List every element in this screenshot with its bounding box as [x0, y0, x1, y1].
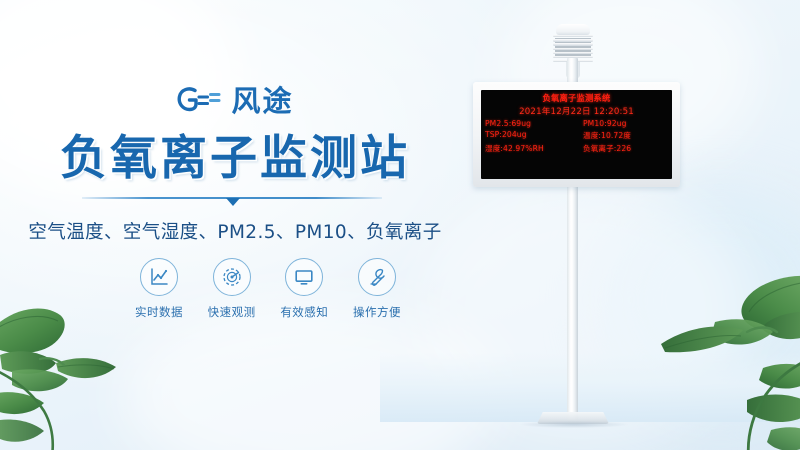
tropical-leaf-icon	[651, 260, 800, 450]
pole-shadow	[520, 421, 628, 428]
led-reading-anion: 负氧离子:226	[577, 143, 667, 154]
feature-label: 实时数据	[128, 304, 190, 320]
page-subtitle: 空气温度、空气湿度、PM2.5、PM10、负氧离子	[0, 218, 470, 244]
radar-scan-icon	[213, 258, 251, 296]
led-reading-pm10: PM10:92ug	[577, 119, 667, 128]
led-reading-pm25: PM2.5:69ug	[485, 119, 575, 128]
brand-logo: 风途	[0, 86, 470, 116]
banner-text-column: 风途 负氧离子监测站 空气温度、空气湿度、PM2.5、PM10、负氧离子	[0, 0, 470, 450]
monitor-screen-icon	[285, 258, 323, 296]
led-reading-grid: PM2.5:69ug PM10:92ug TSP:204ug 温度:10.72度…	[481, 119, 672, 154]
feature-item-realtime-data: 实时数据	[128, 258, 190, 320]
background-blob	[600, 190, 800, 410]
title-divider	[0, 194, 470, 208]
line-chart-icon	[140, 258, 178, 296]
fengtu-logo-icon	[176, 86, 222, 116]
led-display-datetime: 2021年12月22日 12:20:51	[481, 105, 672, 117]
led-reading-temp: 温度:10.72度	[577, 130, 667, 141]
feature-label: 有效感知	[273, 304, 335, 320]
led-display-title: 负氧离子监测系统	[481, 92, 672, 104]
feature-label: 快速观测	[201, 304, 263, 320]
led-screen: 负氧离子监测系统 2021年12月22日 12:20:51 PM2.5:69ug…	[481, 90, 672, 179]
divider-arrow-icon	[226, 198, 240, 206]
feature-item-effective-sensing: 有效感知	[273, 258, 335, 320]
led-reading-tsp: TSP:204ug	[485, 130, 575, 141]
page-title: 负氧离子监测站	[0, 133, 470, 185]
feature-item-easy-operation: 操作方便	[346, 258, 408, 320]
led-display-panel: 负氧离子监测系统 2021年12月22日 12:20:51 PM2.5:69ug…	[473, 82, 680, 187]
wrench-icon	[358, 258, 396, 296]
feature-label: 操作方便	[346, 304, 408, 320]
led-reading-humid: 湿度:42.97%RH	[485, 143, 575, 154]
brand-name: 风途	[231, 87, 293, 116]
product-banner: 风途 负氧离子监测站 空气温度、空气湿度、PM2.5、PM10、负氧离子	[0, 0, 800, 450]
feature-list: 实时数据 快速观测	[128, 258, 408, 320]
feature-item-fast-observation: 快速观测	[201, 258, 263, 320]
